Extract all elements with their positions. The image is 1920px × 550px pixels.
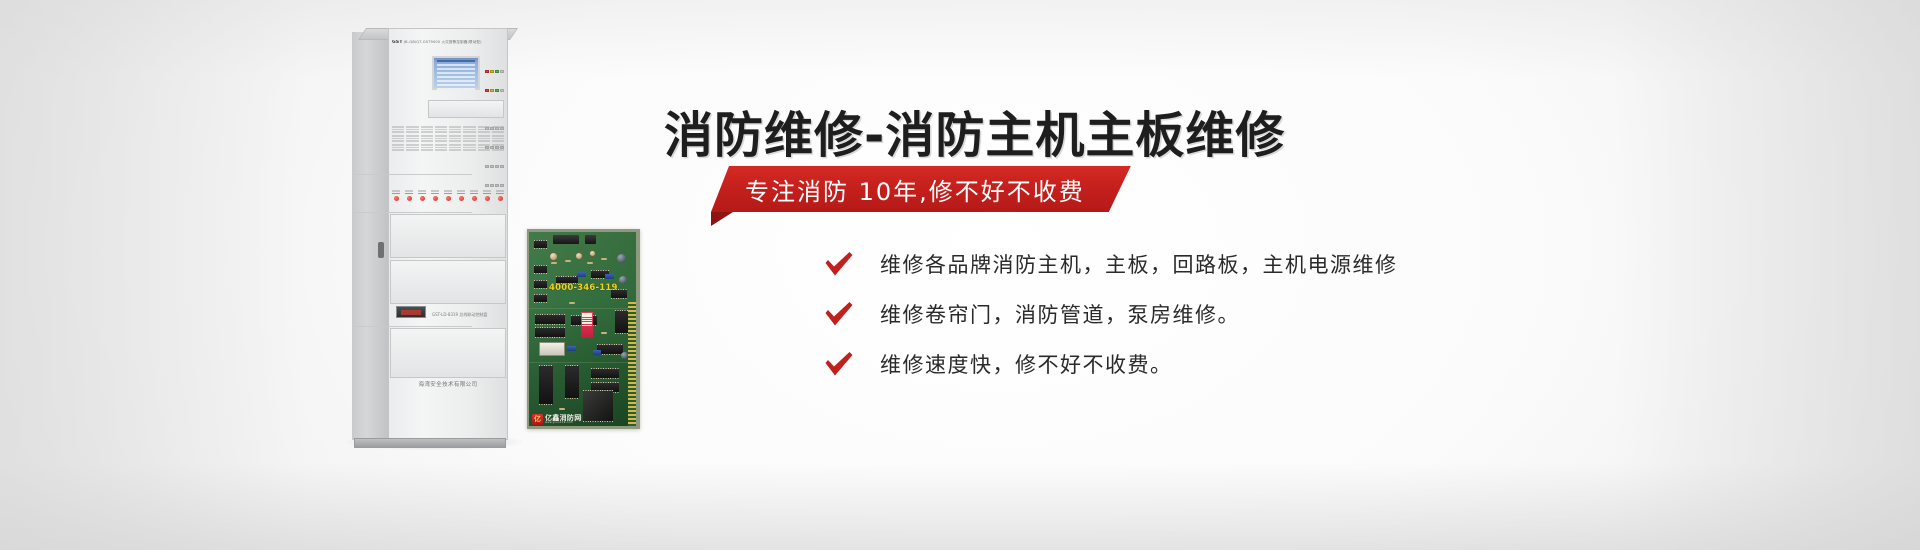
pcb-trace-2	[529, 362, 629, 363]
cabinet-blank-module-3	[390, 328, 506, 378]
promise-ribbon: 专注消防 10年,修不好不收费	[711, 166, 1131, 212]
pcb-plcc-socket	[583, 390, 613, 421]
pcb-trimmer-3	[567, 346, 576, 351]
mainboard-photo: 4000-346-119 亿 亿鑫消防网 www.yixin119.com	[527, 229, 640, 429]
check-icon	[824, 301, 854, 327]
pcb-ic-13	[591, 368, 619, 378]
promise-ribbon-text: 专注消防 10年,修不好不收费	[711, 166, 1131, 212]
pcb-capacitor-1	[549, 252, 558, 261]
pcb-ic-3	[534, 280, 547, 288]
pcb-substrate	[529, 232, 636, 426]
list-item-label: 维修速度快，修不好不收费。	[880, 349, 1173, 379]
promo-banner: GST JB-QB/QT-GST9000 火灾报警控制器(联动型)	[0, 0, 1920, 550]
cabinet-brand-mark: GST	[392, 40, 403, 45]
pcb-crystal-oscillator	[539, 342, 565, 356]
cabinet-zone-matrix	[392, 126, 504, 152]
cabinet-indicator-bank	[392, 190, 504, 201]
pcb-resistor-7	[559, 408, 565, 410]
cabinet-brand-label: GST JB-QB/QT-GST9000 火灾报警控制器(联动型)	[392, 40, 504, 49]
logo-url: www.yixin119.com	[545, 422, 582, 425]
cabinet-keypad	[484, 58, 506, 92]
pcb-dip-switch	[581, 312, 593, 338]
service-list: 维修各品牌消防主机，主板，回路板，主机电源维修 维修卷帘门，消防管道，泵房维修。…	[824, 240, 1684, 390]
cabinet-power-meter	[396, 306, 426, 318]
banner-content: 消防维修-消防主机主板维修 专注消防 10年,修不好不收费 维修各品牌消防主机，…	[664, 0, 1764, 550]
list-item: 维修速度快，修不好不收费。	[824, 340, 1684, 387]
pcb-trimmer-1	[577, 272, 586, 277]
pcb-ic-4	[534, 294, 547, 302]
pcb-ic-9	[535, 314, 565, 324]
banner-headline: 消防维修-消防主机主板维修	[664, 96, 1285, 167]
pcb-resistor-1	[551, 262, 557, 264]
cabinet-blank-module-2	[390, 260, 506, 304]
cabinet-divider-3	[352, 326, 472, 327]
pcb-resistor-4	[601, 258, 607, 260]
fire-alarm-control-panel-image: GST JB-QB/QT-GST9000 火灾报警控制器(联动型)	[352, 14, 510, 446]
cabinet-model-text: JB-QB/QT-GST9000 火灾报警控制器(联动型)	[404, 40, 482, 44]
pcb-electrolytic-1	[617, 254, 626, 263]
pcb-electrolytic-2	[619, 276, 627, 284]
pcb-trimmer-4	[593, 350, 601, 355]
check-icon	[824, 351, 854, 377]
pcb-edge-connector	[628, 302, 636, 426]
cabinet-module-label: GST-LD-8319 总线联动控制盘	[432, 312, 487, 318]
pcb-resistor-5	[569, 302, 575, 304]
pcb-trace-1	[529, 308, 629, 309]
pcb-cpu-1	[539, 365, 553, 404]
cabinet-lcd-display	[432, 56, 480, 90]
list-item: 维修卷帘门，消防管道，泵房维修。	[824, 290, 1684, 337]
cabinet-door-handle	[378, 242, 384, 258]
cabinet-drawer-1	[428, 100, 504, 118]
pcb-resistor-3	[587, 262, 593, 264]
cabinet-divider-2	[352, 212, 472, 213]
pcb-connector-j1	[553, 235, 579, 244]
pcb-connector-j2	[585, 235, 596, 244]
pcb-cpu-2	[565, 365, 579, 398]
list-item-label: 维修各品牌消防主机，主板，回路板，主机电源维修	[880, 249, 1398, 279]
check-icon	[824, 251, 854, 277]
cabinet-blank-module-1	[390, 214, 506, 258]
pcb-capacitor-3	[589, 250, 596, 257]
pcb-electrolytic-3	[621, 352, 628, 359]
pcb-ic-8	[615, 310, 628, 333]
cabinet-divider-1	[352, 174, 472, 175]
promise-ribbon-tail	[711, 212, 733, 226]
logo-mark-icon: 亿	[532, 414, 543, 425]
pcb-resistor-2	[565, 260, 571, 262]
pcb-ic-5	[556, 276, 578, 283]
pcb-ic-2	[534, 265, 547, 273]
cabinet-base-plinth	[354, 438, 506, 448]
pcb-capacitor-2	[575, 252, 583, 260]
list-item-label: 维修卷帘门，消防管道，泵房维修。	[880, 299, 1240, 329]
watermark-logo: 亿 亿鑫消防网 www.yixin119.com	[532, 414, 582, 425]
list-item: 维修各品牌消防主机，主板，回路板，主机电源维修	[824, 240, 1684, 287]
pcb-resistor-6	[601, 332, 607, 334]
pcb-trimmer-2	[605, 274, 614, 279]
cabinet-manufacturer-label: 海湾安全技术有限公司	[392, 380, 504, 388]
hotline-number-overlay: 4000-346-119	[549, 283, 618, 293]
pcb-ic-10	[535, 327, 565, 337]
cabinet-side-panel	[352, 32, 389, 440]
pcb-ic-1	[534, 240, 547, 248]
